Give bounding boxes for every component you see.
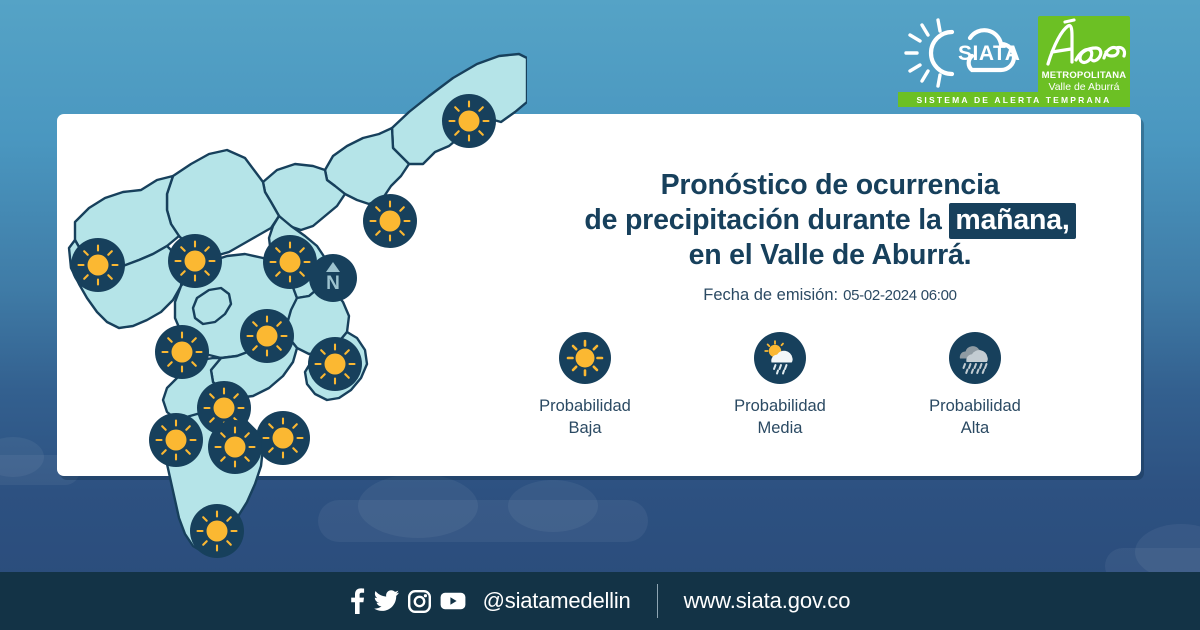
legend-media-line1: Probabilidad	[734, 397, 826, 415]
headline-highlight: mañana,	[949, 203, 1075, 239]
legend-label-media: Probabilidad Media	[734, 395, 826, 439]
headline-line-2-text: de precipitación durante la	[584, 204, 941, 236]
emission-value: 05-02-2024 06:00	[843, 287, 957, 304]
legend-label-baja: Probabilidad Baja	[539, 395, 631, 439]
probability-legend: Probabilidad Baja	[500, 332, 1060, 439]
legend-item-baja: Probabilidad Baja	[500, 332, 670, 439]
marker-11[interactable]	[208, 420, 262, 474]
marker-13[interactable]	[190, 504, 244, 558]
tagline-banner: SISTEMA DE ALERTA TEMPRANA	[898, 92, 1130, 107]
twitter-icon[interactable]	[374, 590, 399, 612]
emission-date: Fecha de emisión:05-02-2024 06:00	[520, 286, 1140, 305]
facebook-icon[interactable]	[350, 588, 365, 614]
tagline-text: SISTEMA DE ALERTA TEMPRANA	[917, 95, 1112, 105]
marker-4[interactable]	[168, 234, 222, 288]
valle-de-aburra-map[interactable]: N	[57, 40, 527, 580]
marker-3[interactable]	[263, 235, 317, 289]
legend-item-alta: Probabilidad Alta	[890, 332, 1060, 439]
footer-bar: @siatamedellin www.siata.gov.co	[0, 572, 1200, 630]
marker-1[interactable]	[442, 94, 496, 148]
legend-alta-line2: Alta	[961, 419, 989, 437]
compass-rose: N	[309, 254, 357, 302]
youtube-icon[interactable]	[440, 591, 466, 611]
marker-7[interactable]	[155, 325, 209, 379]
headline-line-3: en el Valle de Aburrá.	[520, 238, 1140, 273]
legend-baja-line1: Probabilidad	[539, 397, 631, 415]
sun-icon	[559, 332, 611, 384]
social-links[interactable]	[350, 588, 466, 614]
social-handle[interactable]: @siatamedellin	[483, 588, 631, 614]
legend-item-media: Probabilidad Media	[695, 332, 865, 439]
marker-12[interactable]	[149, 413, 203, 467]
website-url[interactable]: www.siata.gov.co	[684, 588, 851, 614]
cloud-rain-icon	[949, 332, 1001, 384]
siata-logo: SIATA	[898, 18, 1026, 88]
footer-divider	[657, 584, 658, 618]
marker-2[interactable]	[363, 194, 417, 248]
legend-alta-line1: Probabilidad	[929, 397, 1021, 415]
compass-north-label: N	[326, 273, 340, 294]
siata-wordmark: SIATA	[958, 42, 1020, 65]
page-title: Pronóstico de ocurrencia de precipitació…	[520, 168, 1140, 273]
legend-baja-line2: Baja	[568, 419, 601, 437]
sun-cloud-rain-icon	[754, 332, 806, 384]
legend-label-alta: Probabilidad Alta	[929, 395, 1021, 439]
area-logo-line1: METROPOLITANA	[1038, 70, 1130, 81]
instagram-icon[interactable]	[408, 590, 431, 613]
marker-5[interactable]	[71, 238, 125, 292]
headline-line-1: Pronóstico de ocurrencia	[520, 168, 1140, 203]
emission-label: Fecha de emisión:	[703, 286, 838, 304]
headline-line-2: de precipitación durante la mañana,	[520, 203, 1140, 238]
area-metropolitana-logo: METROPOLITANA Valle de Aburrá	[1038, 16, 1130, 102]
legend-media-line2: Media	[758, 419, 803, 437]
marker-6[interactable]	[240, 309, 294, 363]
area-script-wordmark	[1038, 18, 1130, 72]
poster-root: N SIATA	[0, 0, 1200, 630]
marker-10[interactable]	[256, 411, 310, 465]
marker-8[interactable]	[308, 337, 362, 391]
